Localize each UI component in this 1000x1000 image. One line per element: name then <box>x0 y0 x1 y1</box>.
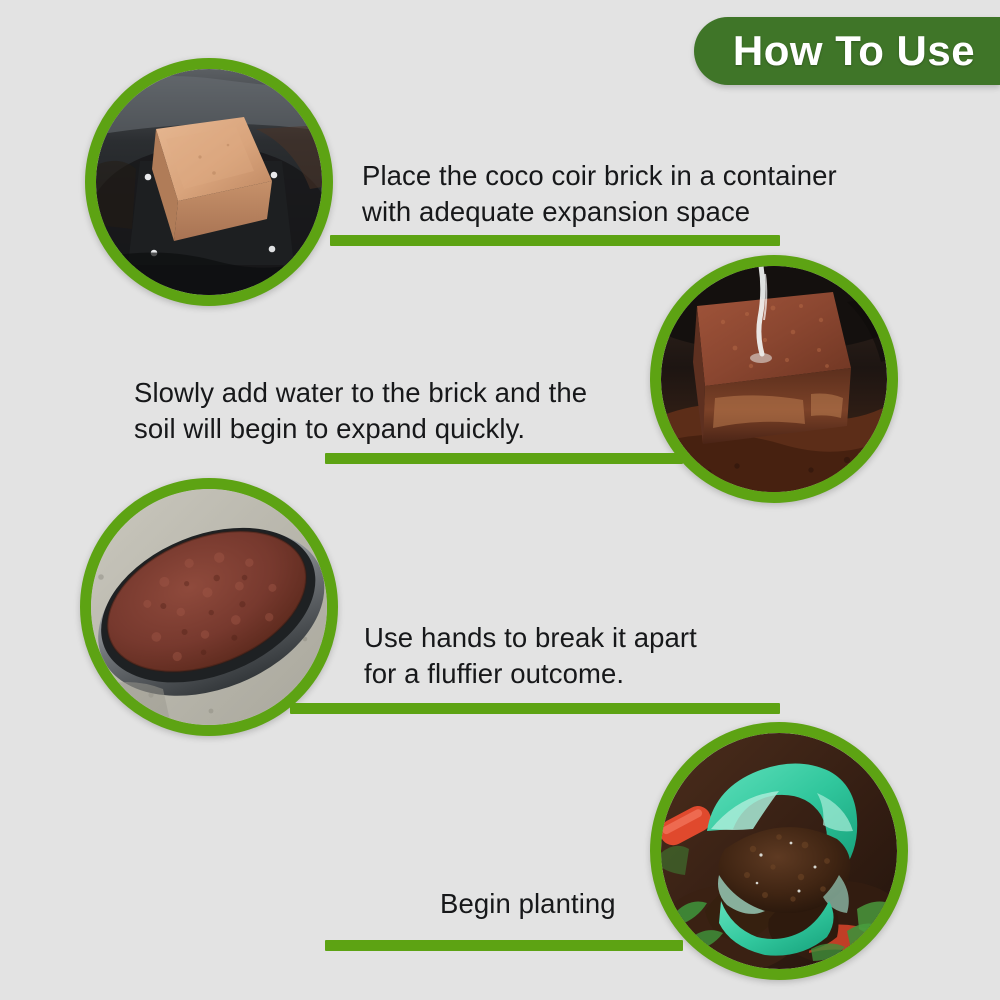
step-3-text-line-2: for a fluffier outcome. <box>364 656 697 692</box>
step-4-photo <box>650 722 908 980</box>
step-2-text-line-1: Slowly add water to the brick and the <box>134 375 587 411</box>
how-to-use-infographic: How To Use <box>0 0 1000 1000</box>
step-4-image <box>661 733 897 969</box>
step-2-image <box>661 266 887 492</box>
step-4-underline <box>325 940 683 951</box>
step-1-text: Place the coco coir brick in a container… <box>362 158 837 231</box>
step-2-text: Slowly add water to the brick and the so… <box>134 375 587 448</box>
step-3-photo <box>80 478 338 736</box>
step-3-text: Use hands to break it apart for a fluffi… <box>364 620 697 693</box>
page-title: How To Use <box>719 27 975 75</box>
step-4-text-line-1: Begin planting <box>440 886 616 922</box>
step-3-underline <box>290 703 780 714</box>
step-1-underline <box>330 235 780 246</box>
fluffed-coir-in-tray-illustration <box>91 489 327 725</box>
header-banner: How To Use <box>694 17 1000 85</box>
step-1-text-line-1: Place the coco coir brick in a container <box>362 158 837 194</box>
step-2-underline <box>325 453 683 464</box>
step-2-text-line-2: soil will begin to expand quickly. <box>134 411 587 447</box>
step-2-photo <box>650 255 898 503</box>
step-4-text: Begin planting <box>440 886 616 922</box>
watering-expanding-brick-illustration <box>661 266 887 492</box>
step-1-image <box>96 69 322 295</box>
step-1-photo <box>85 58 333 306</box>
coco-brick-in-tray-illustration <box>96 69 322 295</box>
step-3-text-line-1: Use hands to break it apart <box>364 620 697 656</box>
step-3-image <box>91 489 327 725</box>
step-1-text-line-2: with adequate expansion space <box>362 194 837 230</box>
gloved-hands-with-soil-illustration <box>661 733 897 969</box>
